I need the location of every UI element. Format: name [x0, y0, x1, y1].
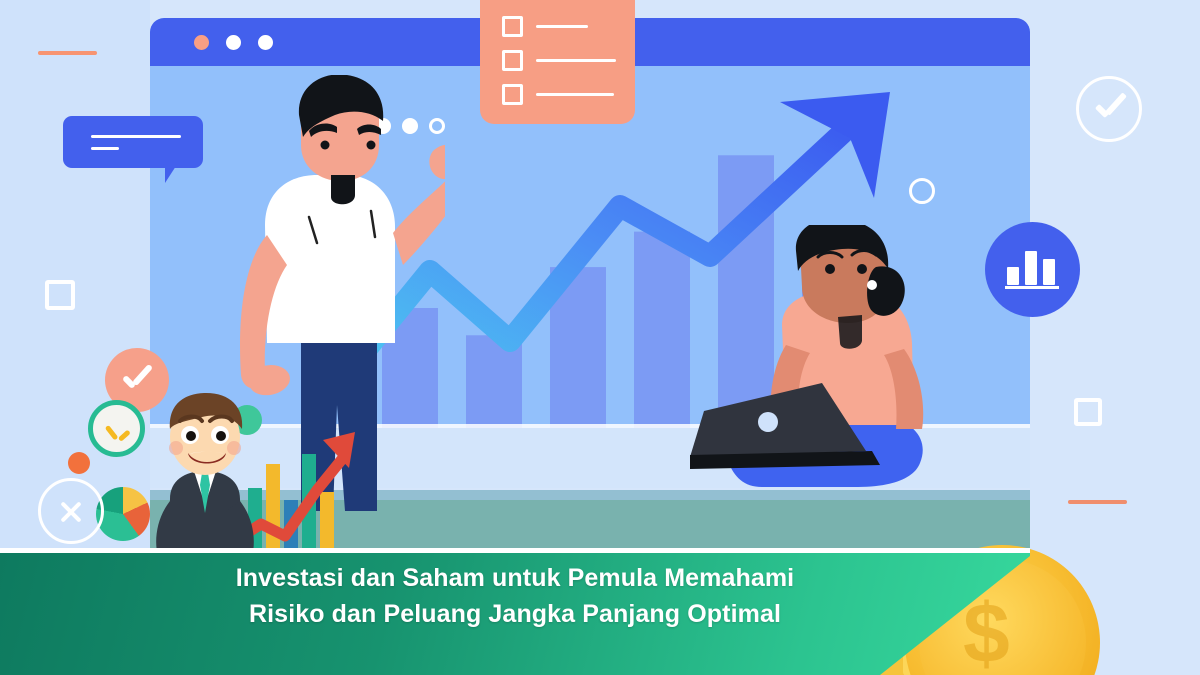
- clock-hand: [118, 429, 131, 441]
- badge-bar: [1025, 251, 1037, 285]
- title-line-1: Investasi dan Saham untuk Pemula Memaham…: [236, 564, 794, 592]
- check-circle-outline-icon: [1076, 76, 1142, 142]
- clock-icon: [88, 400, 145, 457]
- checkbox-icon: [502, 84, 523, 105]
- checkbox-icon: [502, 16, 523, 37]
- bubble-line: [91, 135, 181, 138]
- maximize-dot-icon: [258, 35, 273, 50]
- checklist-line: [536, 93, 614, 96]
- page-title: Investasi dan Saham untuk Pemula Memaham…: [0, 560, 1030, 632]
- checkbox-icon: [502, 50, 523, 71]
- title-banner: Investasi dan Saham untuk Pemula Memaham…: [0, 548, 1030, 675]
- title-line-2: Risiko dan Peluang Jangka Panjang Optima…: [0, 596, 1030, 632]
- badge-baseline: [1005, 286, 1059, 289]
- square-outline-right: [1074, 398, 1102, 426]
- checklist-line: [536, 25, 588, 28]
- title-banner-topline: [0, 548, 1030, 553]
- checklist-card: [480, 0, 635, 124]
- x-circle-outline-icon: [38, 478, 104, 544]
- close-dot-icon: [194, 35, 209, 50]
- orange-dash-top-left: [38, 51, 97, 55]
- speech-bubble-icon: [63, 116, 203, 168]
- illustration-canvas: $ Investasi dan Saham untuk Pemula Memah…: [0, 0, 1200, 675]
- bar-chart-badge-icon: [985, 222, 1080, 317]
- minimize-dot-icon: [226, 35, 241, 50]
- woman-with-laptop-illustration: [690, 225, 950, 500]
- badge-bar: [1043, 259, 1055, 285]
- small-circle-outline: [909, 178, 935, 204]
- orange-dot-icon: [68, 452, 90, 474]
- square-outline-left: [45, 280, 75, 310]
- orange-dash-right: [1068, 500, 1127, 504]
- badge-bar: [1007, 267, 1019, 285]
- checklist-line: [536, 59, 616, 62]
- bubble-line: [91, 147, 119, 150]
- clock-hand: [105, 425, 119, 441]
